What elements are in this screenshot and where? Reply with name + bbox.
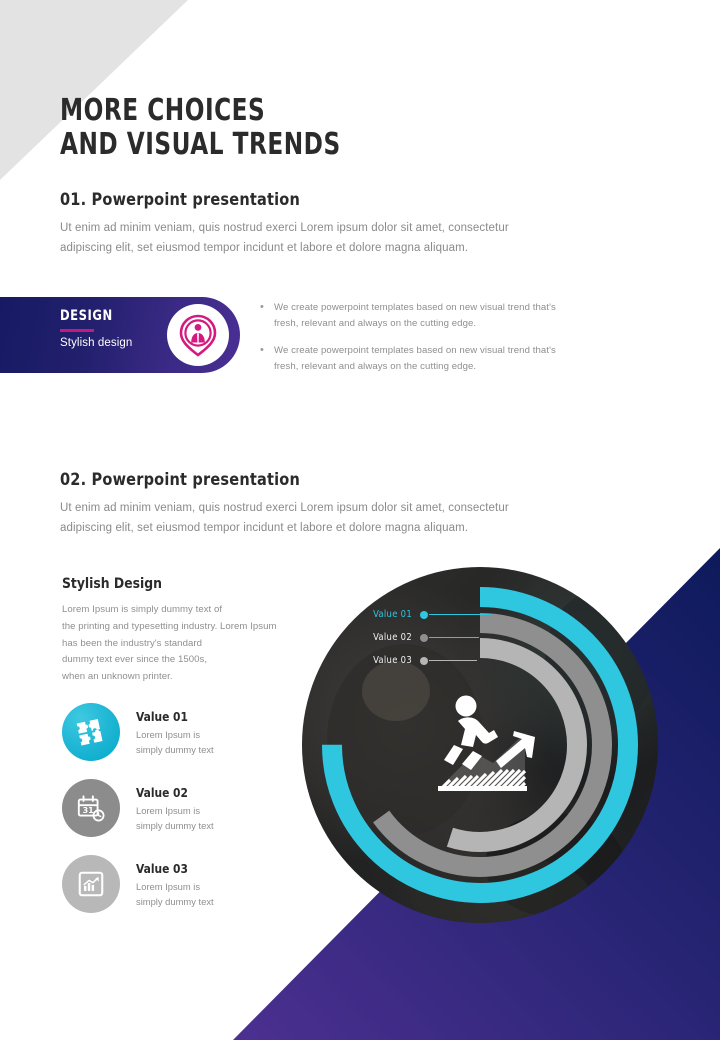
value-03-desc: Lorem Ipsum is simply dummy text — [136, 880, 214, 909]
puzzle-pieces-icon — [76, 717, 106, 747]
value-list: Value 01 Lorem Ipsum is simply dummy tex… — [62, 703, 312, 931]
design-accent-rule — [60, 329, 94, 332]
legend-leader-line — [429, 660, 477, 661]
stylish-design-block: Stylish Design Lorem Ipsum is simply dum… — [62, 576, 292, 686]
value-01-title: Value 01 — [136, 709, 210, 724]
section-01-body: Ut enim ad minim veniam, quis nostrud ex… — [60, 219, 560, 259]
legend-leader-line — [429, 637, 479, 638]
page-title: MORE CHOICES AND VISUAL TRENDS — [60, 94, 341, 162]
list-item: We create powerpoint templates based on … — [258, 343, 578, 374]
stylish-design-title: Stylish Design — [62, 576, 281, 592]
legend-label: Value 03 — [356, 655, 412, 666]
value-02-desc: Lorem Ipsum is simply dummy text — [136, 804, 214, 833]
value-03-icon-circle — [62, 855, 120, 913]
legend-leader-line — [429, 614, 491, 615]
value-01-text: Value 01 Lorem Ipsum is simply dummy tex… — [136, 703, 214, 757]
section-01: 01. Powerpoint presentation Ut enim ad m… — [60, 190, 560, 259]
legend-label: Value 01 — [356, 609, 412, 620]
design-banner-text: DESIGN Stylish design — [60, 308, 170, 349]
design-badge[interactable] — [167, 304, 229, 366]
legend-dot-icon — [420, 657, 428, 665]
list-item[interactable]: Value 01 Lorem Ipsum is simply dummy tex… — [62, 703, 312, 779]
value-03-title: Value 03 — [136, 861, 210, 876]
location-pin-person-icon — [176, 313, 220, 357]
chart-tablet-icon — [76, 869, 106, 899]
legend-item-value-03[interactable]: Value 03 — [356, 649, 491, 672]
ring-chart-legend: Value 01 Value 02 Value 03 — [356, 603, 491, 672]
section-02: 02. Powerpoint presentation Ut enim ad m… — [60, 470, 560, 539]
list-item[interactable]: 31 Value 02 Lorem Ipsum is simply dummy … — [62, 779, 312, 855]
list-item[interactable]: Value 03 Lorem Ipsum is simply dummy tex… — [62, 855, 312, 931]
section-02-body: Ut enim ad minim veniam, quis nostrud ex… — [60, 499, 560, 539]
design-subtitle: Stylish design — [60, 337, 170, 349]
value-01-desc: Lorem Ipsum is simply dummy text — [136, 728, 214, 757]
section-02-heading: 02. Powerpoint presentation — [60, 470, 535, 490]
svg-text:31: 31 — [83, 806, 94, 815]
value-02-title: Value 02 — [136, 785, 210, 800]
stylish-design-body: Lorem Ipsum is simply dummy text of the … — [62, 602, 292, 686]
bullet-list: We create powerpoint templates based on … — [258, 300, 578, 386]
value-03-text: Value 03 Lorem Ipsum is simply dummy tex… — [136, 855, 214, 909]
legend-dot-icon — [420, 634, 428, 642]
legend-dot-icon — [420, 611, 428, 619]
value-01-icon-circle — [62, 703, 120, 761]
legend-item-value-01[interactable]: Value 01 — [356, 603, 491, 626]
value-02-icon-circle: 31 — [62, 779, 120, 837]
calendar-clock-icon: 31 — [76, 793, 106, 823]
design-kicker: DESIGN — [60, 308, 161, 324]
list-item: We create powerpoint templates based on … — [258, 300, 578, 331]
section-01-heading: 01. Powerpoint presentation — [60, 190, 535, 210]
legend-item-value-02[interactable]: Value 02 — [356, 626, 491, 649]
legend-label: Value 02 — [356, 632, 412, 643]
ring-chart: Value 01 Value 02 Value 03 — [300, 565, 660, 925]
value-02-text: Value 02 Lorem Ipsum is simply dummy tex… — [136, 779, 214, 833]
